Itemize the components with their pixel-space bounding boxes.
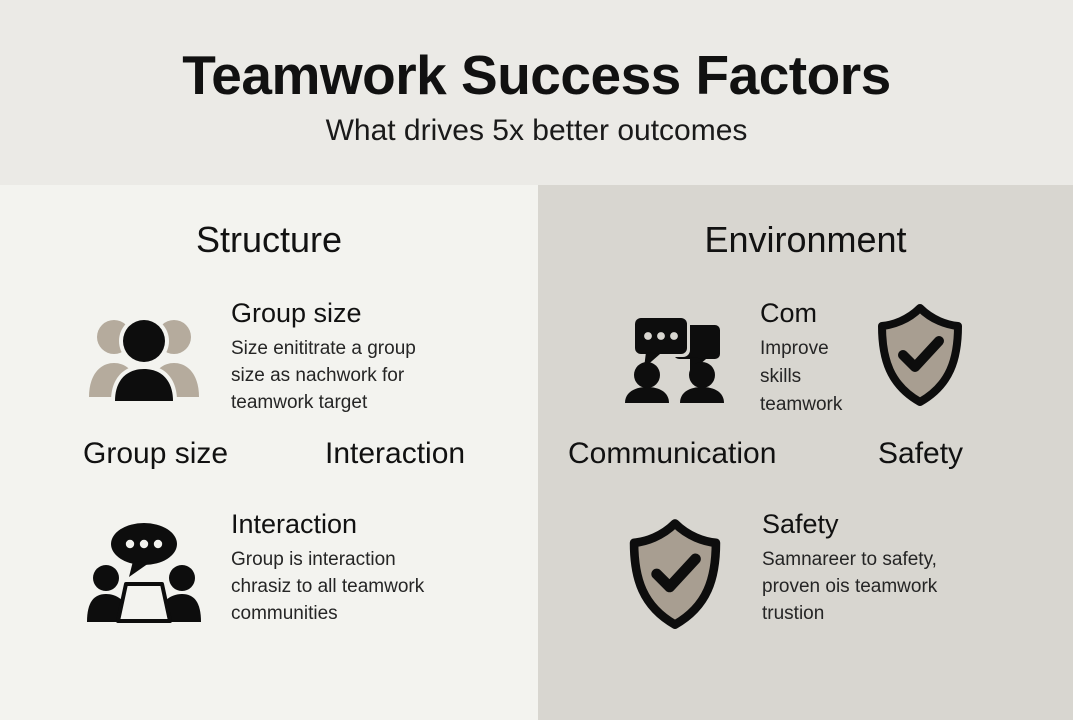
card-interaction-body: Group is interaction chrasiz to all team… [231,546,515,627]
card-interaction-title: Interaction [231,508,515,540]
card-interaction-text: Interaction Group is interaction chrasiz… [203,508,515,627]
row-label-communication: Communication [568,436,776,472]
card-group-size-text: Group size Size enititrate a group size … [203,297,505,416]
panel-structure: Structure Group size [0,185,538,720]
header-band: Teamwork Success Factors What drives 5x … [0,0,1073,185]
people-at-table-speech-bubble-icon [85,508,203,626]
card-safety-text: Safety Samnareer to safety, proven ois t… [734,508,1056,627]
shield-check-icon [616,508,734,630]
body-line: trustion [762,600,1056,627]
body-line: proven ois teamwork [762,573,1056,600]
body-line: Samnareer to safety, [762,546,1056,573]
body-line: Size enititrate a group [231,335,505,362]
body-line: chrasiz to all teamwork [231,573,515,600]
body-line: Group is interaction [231,546,515,573]
body-line: size as nachwork for [231,362,505,389]
panel-heading-environment: Environment [538,218,1073,262]
two-people-speech-bubbles-icon [616,297,734,405]
card-group-size-title: Group size [231,297,505,329]
card-safety-body: Samnareer to safety, proven ois teamwork… [762,546,1056,627]
panel-environment: Environment [538,185,1073,720]
card-group-size-body: Size enititrate a group size as nachwork… [231,335,505,416]
body-line: communities [231,600,515,627]
card-interaction: Interaction Group is interaction chrasiz… [85,508,515,627]
shield-check-icon [876,303,964,407]
page-title: Teamwork Success Factors [0,44,1073,106]
card-group-size: Group size Size enititrate a group size … [85,297,505,416]
body-line: teamwork target [231,389,505,416]
row-label-interaction: Interaction [325,436,465,472]
page-subtitle: What drives 5x better outcomes [0,112,1073,150]
panel-heading-structure: Structure [0,218,538,262]
card-safety-title: Safety [762,508,1056,540]
card-safety: Safety Samnareer to safety, proven ois t… [616,508,1056,630]
infographic-poster: Teamwork Success Factors What drives 5x … [0,0,1073,720]
row-label-group-size: Group size [83,436,228,472]
row-label-safety: Safety [878,436,963,472]
group-of-people-icon [85,297,203,401]
